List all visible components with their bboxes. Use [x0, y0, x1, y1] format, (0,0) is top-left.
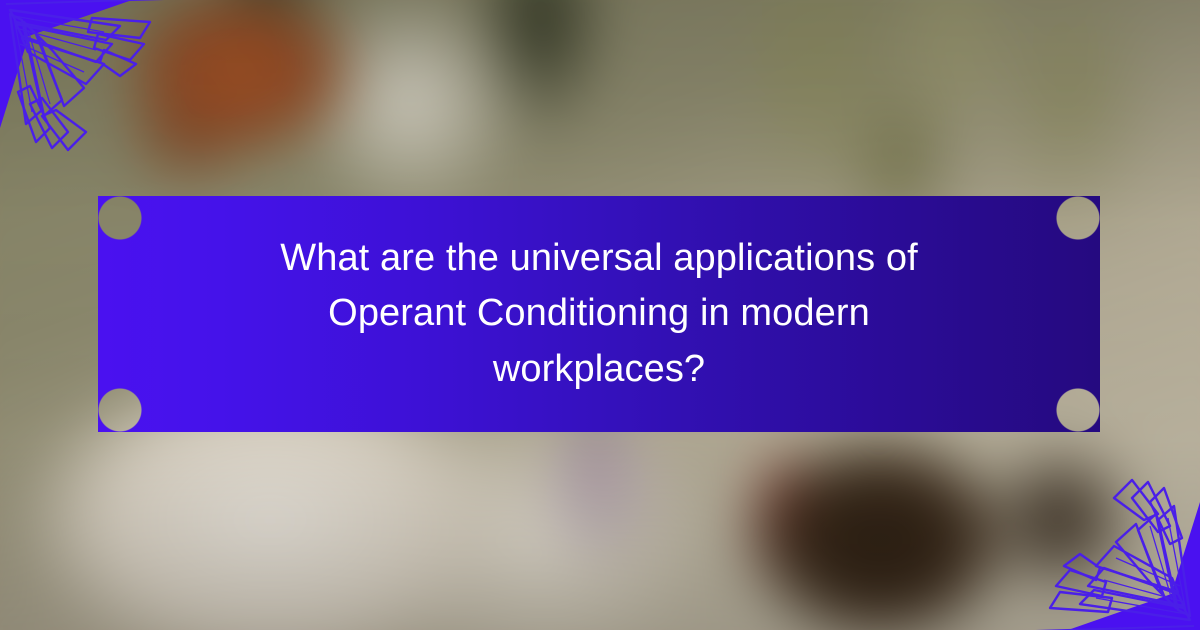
share-card-canvas: What are the universal applications of O… — [0, 0, 1200, 630]
page-title: What are the universal applications of O… — [149, 231, 1049, 397]
corner-ornament-top-left — [0, 0, 200, 190]
starburst-icon — [0, 0, 200, 190]
title-banner: What are the universal applications of O… — [98, 196, 1100, 432]
starburst-icon — [1000, 440, 1200, 630]
corner-ornament-bottom-right — [1000, 440, 1200, 630]
